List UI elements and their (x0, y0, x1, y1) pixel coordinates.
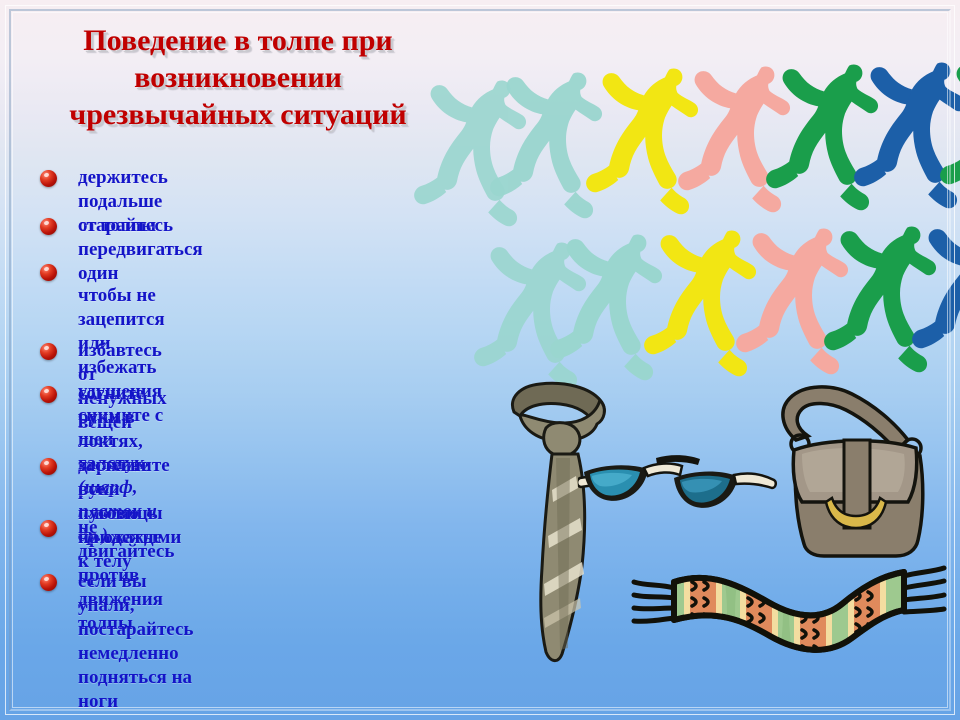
sunglasses-icon (578, 450, 778, 540)
slide-canvas: Поведение в толпе при возникновении чрез… (0, 0, 960, 720)
bullet-sphere-icon (40, 458, 57, 475)
striped-scarf-icon (628, 548, 948, 678)
bullet-sphere-icon (40, 264, 57, 281)
bullet-sphere-icon (40, 343, 57, 360)
bullet-sphere-icon (40, 218, 57, 235)
bullet-sphere-icon (40, 574, 57, 591)
bullet-sphere-icon (40, 386, 57, 403)
list-item-label: если вы упали, постарайтесь немедленно п… (78, 570, 193, 714)
bullet-sphere-icon (40, 170, 57, 187)
bullet-sphere-icon (40, 520, 57, 537)
page-title: Поведение в толпе при возникновении чрез… (28, 22, 448, 133)
